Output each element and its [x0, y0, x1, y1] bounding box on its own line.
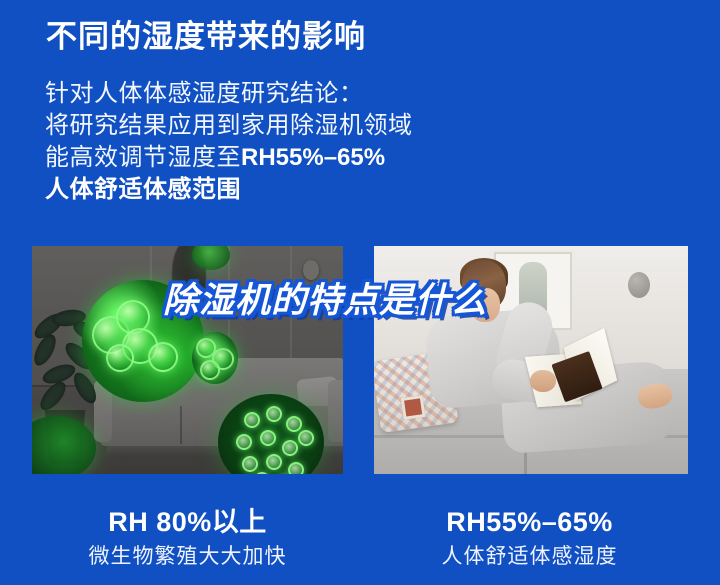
- intro-line-3: 能高效调节湿度至RH55%–65%: [45, 142, 605, 174]
- sofa-arm-right: [328, 380, 343, 442]
- intro-line-2: 将研究结果应用到家用除湿机领域: [45, 110, 605, 142]
- caption-main-label: RH 80%以上: [32, 505, 343, 539]
- caption-main-label: RH55%–65%: [374, 505, 685, 539]
- infographic-poster: 不同的湿度带来的影响 针对人体体感湿度研究结论： 将研究结果应用到家用除湿机领域…: [0, 0, 720, 585]
- intro-line-1: 针对人体体感湿度研究结论：: [45, 78, 605, 110]
- microbe-medium: [192, 332, 238, 384]
- caption-sub-label: 人体舒适体感湿度: [374, 543, 685, 571]
- person-hand: [530, 370, 556, 392]
- sofa-cushion-seam: [180, 406, 182, 444]
- wall-knob-icon: [628, 272, 650, 298]
- caption-high-humidity: RH 80%以上 微生物繁殖大大加快: [32, 505, 343, 571]
- pillow-motif: [401, 395, 426, 420]
- intro-line-4: 人体舒适体感范围: [45, 174, 605, 206]
- overlay-title: 除湿机的特点是什么: [163, 272, 487, 323]
- caption-comfort-humidity: RH55%–65% 人体舒适体感湿度: [374, 505, 685, 571]
- page-title: 不同的湿度带来的影响: [46, 16, 366, 58]
- intro-line-3-prefix: 能高效调节湿度至: [45, 144, 241, 171]
- intro-text-block: 针对人体体感湿度研究结论： 将研究结果应用到家用除湿机领域 能高效调节湿度至RH…: [45, 78, 605, 206]
- intro-line-3-value: RH55%–65%: [241, 144, 385, 171]
- caption-sub-label: 微生物繁殖大大加快: [32, 543, 343, 571]
